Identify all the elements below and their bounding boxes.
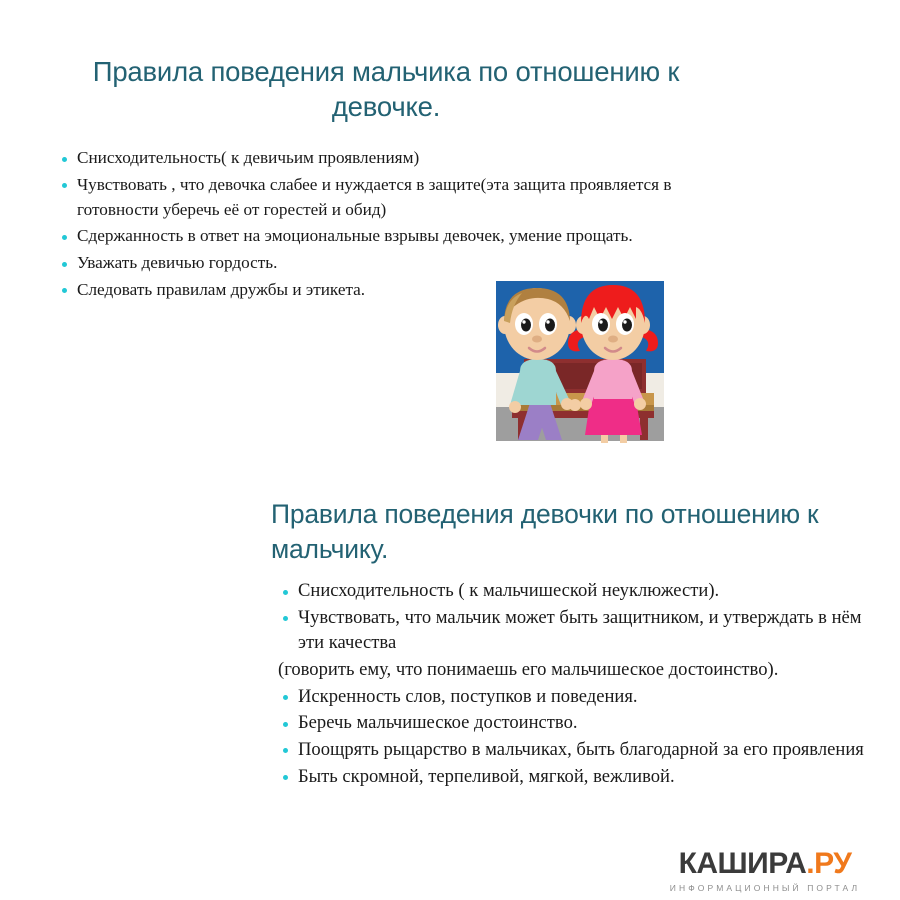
list-item: Снисходительность ( к мальчишеской неукл…	[282, 578, 867, 604]
watermark-brand-name: КАШИРА	[679, 847, 807, 880]
watermark-brand: КАШИРА.РУ	[655, 849, 875, 879]
girl-rules-list: Снисходительность ( к мальчишеской неукл…	[282, 578, 867, 790]
list-item: Поощрять рыцарство в мальчиках, быть бла…	[282, 737, 867, 763]
page-title-girl-rules: Правила поведения девочки по отношению к…	[271, 497, 871, 567]
boy-and-girl-on-bench-illustration	[490, 277, 670, 450]
list-item: Чувствовать , что девочка слабее и нужда…	[61, 173, 689, 223]
list-item-continuation: (говорить ему, что понимаешь его мальчиш…	[279, 657, 867, 683]
slide-canvas: Правила поведения мальчика по отношению …	[0, 0, 900, 900]
list-item: Искренность слов, поступков и поведения.	[282, 684, 867, 710]
watermark-brand-tld: .РУ	[806, 847, 851, 880]
list-item: Снисходительность( к девичьим проявления…	[61, 146, 689, 171]
list-item: Быть скромной, терпеливой, мягкой, вежли…	[282, 764, 867, 790]
site-watermark-logo: КАШИРА.РУ ИНФОРМАЦИОННЫЙ ПОРТАЛ	[655, 849, 875, 893]
list-item: Чувствовать, что мальчик может быть защи…	[282, 605, 867, 656]
page-title-boy-rules: Правила поведения мальчика по отношению …	[50, 54, 722, 124]
list-item: Беречь мальчишеское достоинство.	[282, 710, 867, 736]
watermark-subtitle: ИНФОРМАЦИОННЫЙ ПОРТАЛ	[655, 883, 875, 893]
list-item: Сдержанность в ответ на эмоциональные вз…	[61, 224, 689, 249]
list-item: Уважать девичью гордость.	[61, 251, 689, 276]
